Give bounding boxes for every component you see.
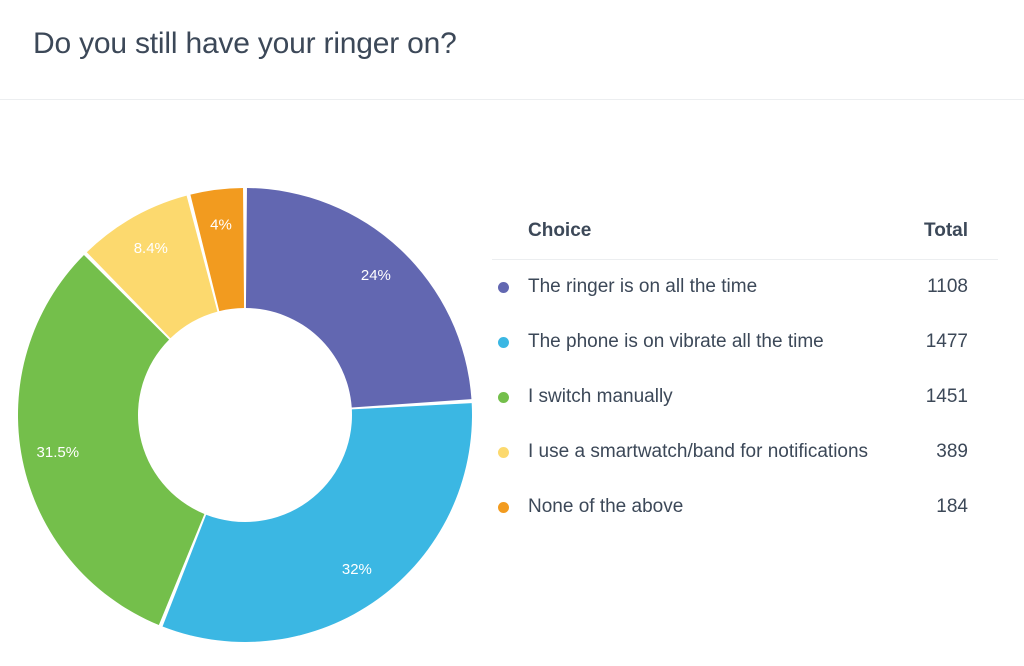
legend-choice-label: The phone is on vibrate all the time (522, 315, 878, 370)
page-title: Do you still have your ringer on? (33, 27, 457, 61)
legend-table-body: The ringer is on all the time1108The pho… (492, 260, 998, 535)
column-header-total: Total (878, 220, 998, 260)
column-header-choice: Choice (492, 220, 878, 260)
donut-slice-percent-label: 4% (210, 216, 232, 233)
legend-table: Choice Total The ringer is on all the ti… (492, 220, 998, 535)
page-header: Do you still have your ringer on? (0, 0, 1024, 100)
donut-slices (18, 188, 472, 642)
legend-swatch-dot-icon (498, 502, 509, 513)
content-area: 24%32%31.5%8.4%4% Choice Total The ringe… (0, 101, 1024, 666)
legend-row[interactable]: The phone is on vibrate all the time1477 (492, 315, 998, 370)
legend-swatch-dot-icon (498, 337, 509, 348)
legend-total-value: 1108 (878, 260, 998, 315)
legend-swatch-cell (492, 315, 522, 370)
legend-header-row: Choice Total (492, 220, 998, 260)
donut-slice-percent-label: 8.4% (134, 240, 168, 257)
donut-chart: 24%32%31.5%8.4%4% (17, 187, 473, 643)
legend-choice-label: I use a smartwatch/band for notification… (522, 425, 878, 480)
legend-row[interactable]: I use a smartwatch/band for notification… (492, 425, 998, 480)
donut-slice[interactable] (163, 403, 472, 642)
legend-total-value: 184 (878, 480, 998, 535)
donut-slice-percent-label: 24% (361, 267, 391, 284)
legend-swatch-dot-icon (498, 447, 509, 458)
donut-chart-svg: 24%32%31.5%8.4%4% (17, 187, 473, 643)
legend-row[interactable]: I switch manually1451 (492, 370, 998, 425)
legend-swatch-dot-icon (498, 282, 509, 293)
legend-total-value: 1451 (878, 370, 998, 425)
legend-choice-label: I switch manually (522, 370, 878, 425)
donut-slice-percent-label: 31.5% (37, 444, 80, 461)
legend-row[interactable]: None of the above184 (492, 480, 998, 535)
legend-table-head: Choice Total (492, 220, 998, 260)
legend-row[interactable]: The ringer is on all the time1108 (492, 260, 998, 315)
legend-choice-label: None of the above (522, 480, 878, 535)
legend-total-value: 1477 (878, 315, 998, 370)
donut-slice-percent-label: 32% (342, 561, 372, 578)
legend-swatch-cell (492, 425, 522, 480)
legend-total-value: 389 (878, 425, 998, 480)
legend-swatch-cell (492, 480, 522, 535)
legend-swatch-cell (492, 370, 522, 425)
legend-panel: Choice Total The ringer is on all the ti… (492, 220, 998, 535)
donut-slice[interactable] (246, 188, 472, 408)
legend-swatch-dot-icon (498, 392, 509, 403)
legend-swatch-cell (492, 260, 522, 315)
legend-choice-label: The ringer is on all the time (522, 260, 878, 315)
